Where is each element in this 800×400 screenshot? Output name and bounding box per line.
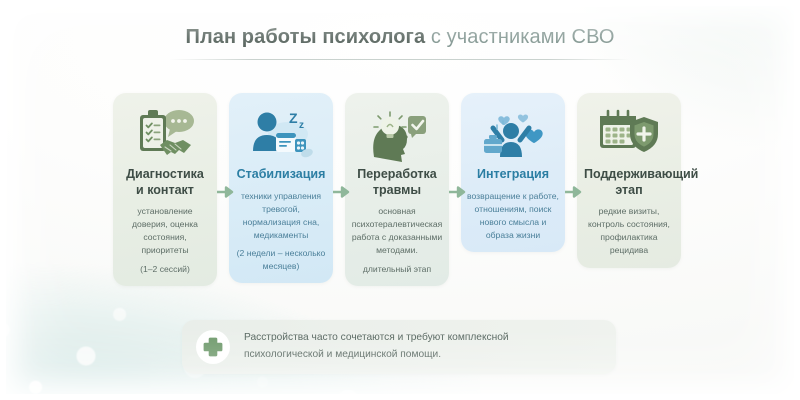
stage-body: редкие визиты, контроль состояния, профи… (582, 205, 676, 257)
stage-body-text: основная психотералевтическая работа с д… (352, 206, 443, 255)
stage-title: Стабилизация (234, 167, 328, 183)
medical-cross-icon (196, 330, 230, 364)
stage-body-text: установление доверия, оценка состояния, … (132, 206, 198, 255)
stage-body-sub: (2 недели – несколько месяцев) (235, 247, 327, 273)
stage-title: Интеграция (466, 167, 560, 183)
title-divider (170, 59, 630, 60)
footer-note-text: Расстройства часто сочетаются и требуют … (244, 330, 523, 364)
connector-arrow-4 (565, 185, 582, 197)
svg-text:Z: Z (289, 110, 298, 126)
header: План работы психолога с участниками СВО (0, 26, 800, 60)
connector-arrow-1 (217, 185, 234, 197)
person-hearts-briefcase-icon (466, 104, 560, 166)
stage-card-stabilizaciya[interactable]: Z z Стабилизация (229, 93, 333, 283)
stages-row: Диагностика и контакт установление довер… (113, 93, 693, 308)
svg-text:z: z (299, 120, 304, 131)
stage-card-podderzhivayushchiy-etap[interactable]: Поддерживающий этап редкие визиты, контр… (577, 93, 681, 268)
stage-title: Поддерживающий этап (582, 167, 676, 198)
head-lightbulb-check-icon (350, 104, 444, 166)
person-sleep-medication-icon: Z z (234, 104, 328, 166)
stage-body-text: возвращение к работе, отношениям, поиск … (467, 191, 559, 240)
stage-body: основная психотералевтическая работа с д… (350, 205, 444, 275)
stage-body-text: редкие визиты, контроль состояния, профи… (588, 206, 670, 255)
connector-arrow-3 (449, 185, 466, 197)
stage-body-sub: (1–2 сессий) (119, 263, 211, 276)
stage-card-integraciya[interactable]: Интеграция возвращение к работе, отношен… (461, 93, 565, 252)
calendar-shield-plus-icon (582, 104, 676, 166)
page-title-strong: План работы психолога (185, 26, 425, 48)
stage-title: Диагностика и контакт (118, 167, 212, 198)
footer-note-line-1: Расстройства часто сочетаются и требуют … (244, 330, 509, 347)
page-title: План работы психолога с участниками СВО (0, 26, 800, 49)
stage-body: возвращение к работе, отношениям, поиск … (466, 190, 560, 242)
stage-body-text: техники управления тревогой, нормализаци… (241, 191, 321, 240)
stage-card-pererabotka-travmy[interactable]: Переработка травмы основная психотералев… (345, 93, 449, 286)
clipboard-handshake-icon (118, 104, 212, 166)
stage-body-sub: длительный этап (351, 263, 443, 276)
stage-title: Переработка травмы (350, 167, 444, 198)
footer-note-line-2: психологической и медицинской помощи. (244, 347, 509, 364)
page-title-light: с участниками СВО (425, 26, 614, 48)
footer-note: Расстройства часто сочетаются и требуют … (182, 320, 616, 374)
stage-body: техники управления тревогой, нормализаци… (234, 190, 328, 273)
connector-arrow-2 (333, 185, 350, 197)
infographic-canvas: План работы психолога с участниками СВО (0, 0, 800, 400)
stage-card-diagnostika[interactable]: Диагностика и контакт установление довер… (113, 93, 217, 286)
stage-body: установление доверия, оценка состояния, … (118, 205, 212, 275)
